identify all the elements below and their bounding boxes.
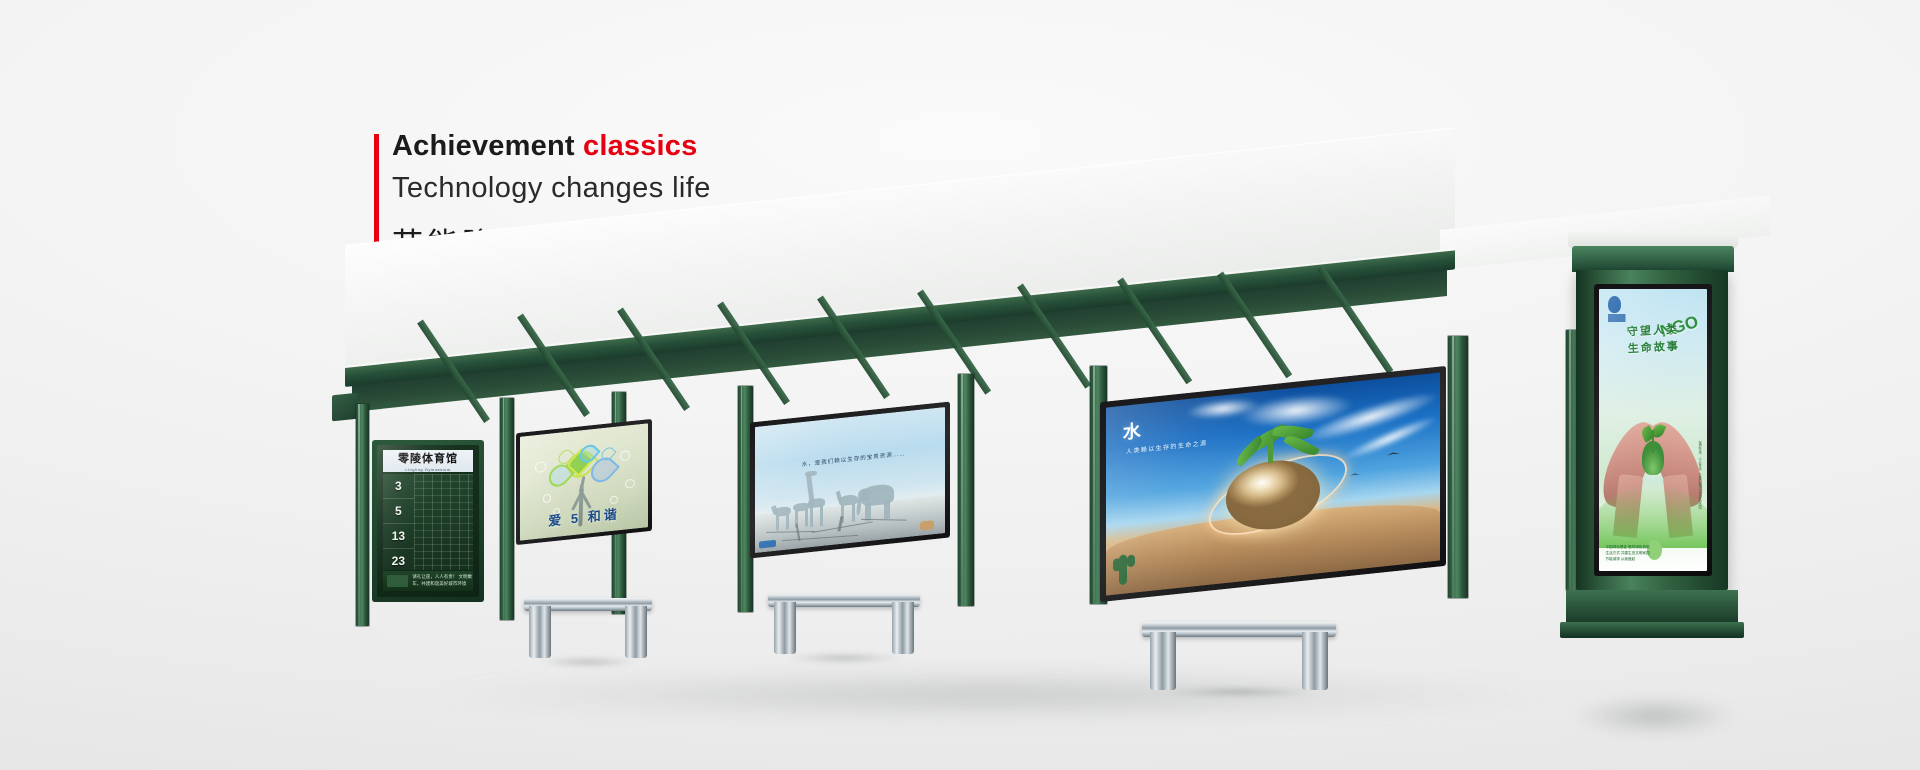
- route-number-column: 3 5 13 23: [383, 474, 414, 570]
- shelter-post: [1448, 336, 1468, 598]
- route-number: 13: [392, 529, 405, 543]
- route-row: 23: [383, 549, 414, 574]
- route-row: 5: [383, 499, 414, 524]
- tower-plinth: [1560, 622, 1744, 638]
- org-logo: [1608, 296, 1636, 313]
- lightbox-panel-heart-tree[interactable]: 爱 5 和谐: [516, 419, 652, 545]
- poster-title: 水: [1123, 417, 1142, 445]
- caption-number: 5: [571, 510, 581, 526]
- poster-eco-artwork: NGO 守望人类 生命故事 中国绿色基金: [1599, 289, 1707, 571]
- tower-cap: [1572, 246, 1734, 272]
- lightbox-panel-eco-tower[interactable]: NGO 守望人类 生命故事 中国绿色基金: [1594, 284, 1712, 576]
- shelter-post: [958, 374, 974, 606]
- bird-icon: [1350, 473, 1360, 477]
- bus-shelter: 零陵体育馆 Lingling Gymnasium 3 5 13 23 请礼让座，…: [0, 0, 1920, 770]
- route-number: 5: [395, 504, 402, 518]
- shelter-post: [500, 398, 514, 620]
- notice-text: 请礼让座，人人有责！ 文明乘车，共建和谐美好城市环境: [408, 574, 473, 588]
- schedule-header: 零陵体育馆 Lingling Gymnasium: [383, 450, 473, 473]
- poster-footer-text: 中国绿色基金 倡导绿色低碳生活方式 共建生态文明家园 节能减排 从我做起: [1605, 544, 1653, 562]
- poster-caption: 水，是我们赖以生存的宝贵资源……: [801, 449, 907, 468]
- route-schedule-board[interactable]: 零陵体育馆 Lingling Gymnasium 3 5 13 23 请礼让座，…: [372, 440, 484, 602]
- route-number: 23: [392, 554, 405, 568]
- lightbox-panel-animals[interactable]: 水，是我们赖以生存的宝贵资源……: [750, 401, 950, 558]
- poster-caption: 爱 5 和谐: [542, 503, 626, 531]
- caption-right: 和谐: [588, 506, 620, 524]
- bucket-prop: [920, 520, 933, 530]
- notice-tag: [387, 575, 409, 587]
- poster-water-artwork: 水 人类赖以生存的生命之源: [1106, 372, 1440, 595]
- schedule-body: 3 5 13 23: [383, 474, 473, 570]
- caption-left: 爱: [548, 512, 564, 529]
- poster-heart-tree-artwork: 爱 5 和谐: [520, 423, 648, 540]
- canopy-left-endcap: [332, 393, 358, 422]
- lightbox-panel-water[interactable]: 水 人类赖以生存的生命之源: [1100, 366, 1446, 602]
- shelter-post: [356, 404, 369, 626]
- schedule-footer: 请礼让座，人人有责！ 文明乘车，共建和谐美好城市环境: [383, 571, 473, 591]
- station-name-english: Lingling Gymnasium: [405, 467, 450, 472]
- route-row: 13: [383, 524, 414, 549]
- product-render-stage: Achievement classics Technology changes …: [0, 0, 1920, 770]
- poster-side-text: 保护环境，人人有责。让我们携手共创绿色家园。: [1661, 441, 1702, 526]
- bird-icon: [1387, 452, 1400, 457]
- poster-animals-artwork: 水，是我们赖以生存的宝贵资源……: [755, 407, 945, 553]
- route-row: 3: [383, 474, 414, 499]
- poster-title-line-2: 生命故事: [1627, 340, 1680, 355]
- route-stop-list-grid: [414, 474, 473, 570]
- poster-title: 守望人类 生命故事: [1607, 320, 1699, 358]
- station-name: 零陵体育馆: [398, 450, 458, 466]
- poster-title-line-1: 守望人类: [1626, 323, 1679, 338]
- route-number: 3: [395, 479, 402, 493]
